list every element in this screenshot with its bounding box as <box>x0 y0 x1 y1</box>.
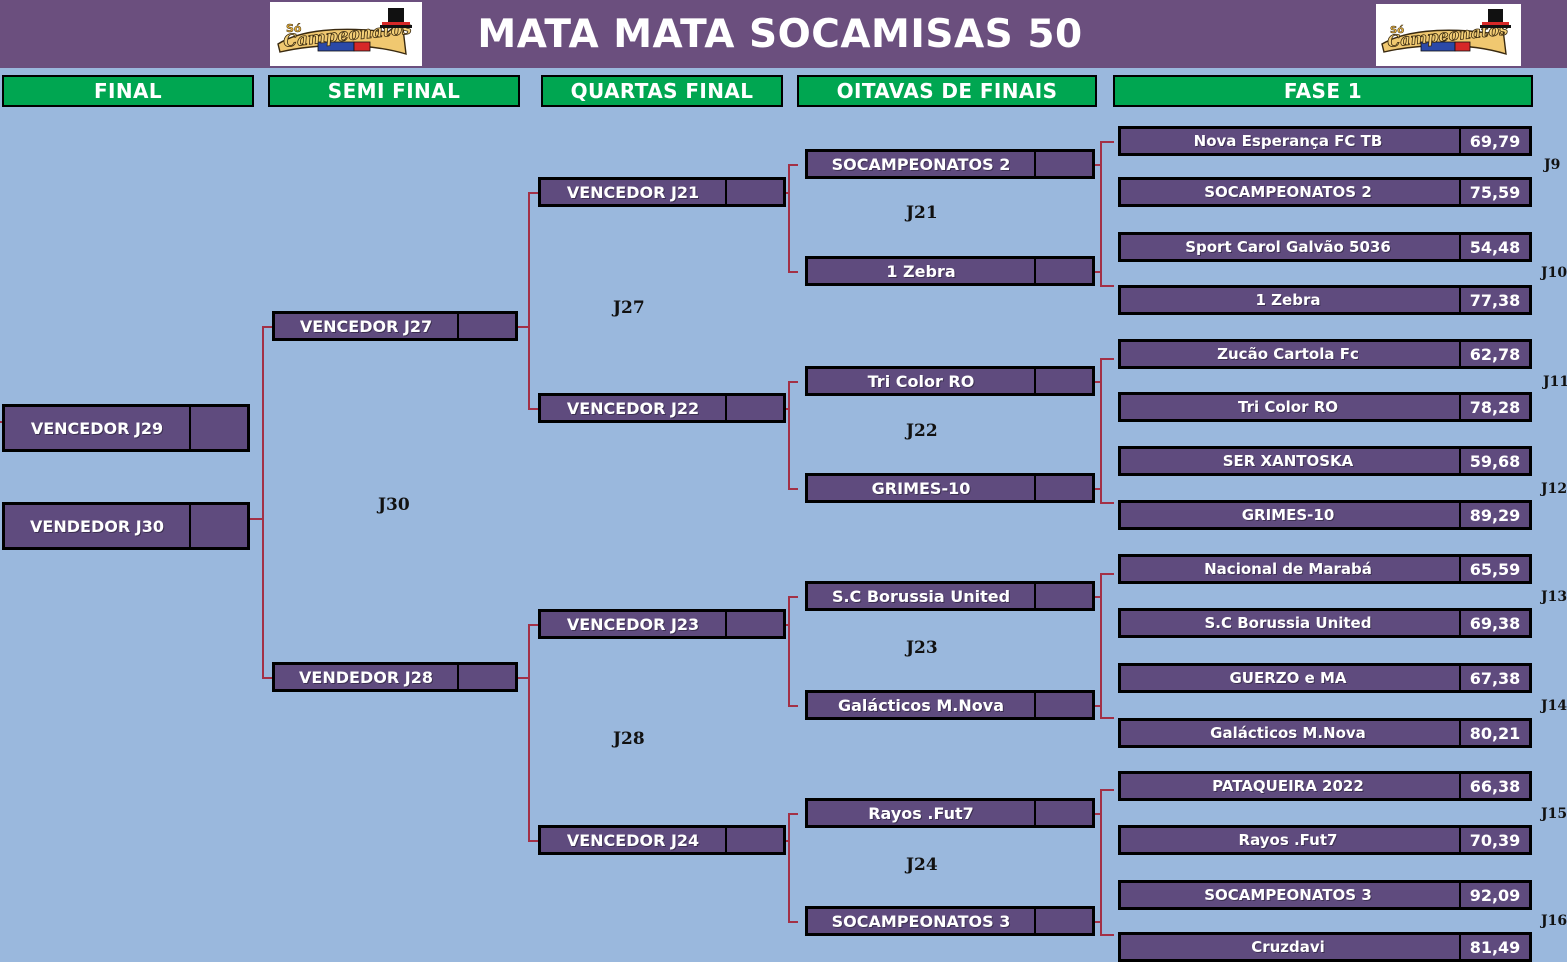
team-score: 80,21 <box>1459 721 1529 745</box>
team-name: Tri Color RO <box>808 369 1034 393</box>
fase1-team-box[interactable]: Zucão Cartola Fc 62,78 <box>1118 339 1532 369</box>
oitavas-team-box[interactable]: SOCAMPEONATOS 3 <box>805 906 1095 936</box>
connector <box>528 192 530 408</box>
connector <box>1100 358 1114 360</box>
fase1-team-box[interactable]: Sport Carol Galvão 5036 54,48 <box>1118 232 1532 262</box>
match-code-j15: J15 <box>1541 806 1567 822</box>
oitavas-team-box[interactable]: GRIMES-10 <box>805 473 1095 503</box>
team-score: 59,68 <box>1459 449 1529 473</box>
team-score: 92,09 <box>1459 883 1529 907</box>
team-name: Nacional de Marabá <box>1121 557 1459 581</box>
team-name: Zucão Cartola Fc <box>1121 342 1459 366</box>
connector <box>1100 285 1114 287</box>
fase1-team-box[interactable]: GUERZO e MA 67,38 <box>1118 663 1532 693</box>
team-score <box>725 396 783 420</box>
match-code-j22: J22 <box>906 421 938 441</box>
oitavas-team-box[interactable]: Galácticos M.Nova <box>805 690 1095 720</box>
team-score <box>189 407 247 449</box>
connector <box>1100 141 1114 143</box>
connector <box>250 518 264 520</box>
connector <box>1100 358 1102 503</box>
semi-team-box[interactable]: VENDEDOR J28 <box>272 662 518 692</box>
team-name: SOCAMPEONATOS 3 <box>1121 883 1459 907</box>
team-score <box>1034 369 1092 393</box>
fase1-team-box[interactable]: S.C Borussia United 69,38 <box>1118 608 1532 638</box>
team-name: S.C Borussia United <box>1121 611 1459 635</box>
fase1-team-box[interactable]: Nova Esperança FC TB 69,79 <box>1118 126 1532 156</box>
oitavas-team-box[interactable]: 1 Zebra <box>805 256 1095 286</box>
connector <box>528 624 530 840</box>
so-campeonatos-logo-left: Só Campeonatos <box>270 2 422 66</box>
phase-header-fase1[interactable]: FASE 1 <box>1113 75 1533 107</box>
phase-header-final[interactable]: FINAL <box>2 75 254 107</box>
connector <box>1100 573 1114 575</box>
match-code-j9: J9 <box>1544 157 1560 173</box>
team-name: VENCEDOR J21 <box>541 180 725 204</box>
team-name: VENCEDOR J22 <box>541 396 725 420</box>
team-score: 54,48 <box>1459 235 1529 259</box>
team-score <box>457 314 515 338</box>
connector <box>788 164 790 271</box>
fase1-team-box[interactable]: Nacional de Marabá 65,59 <box>1118 554 1532 584</box>
team-name: SER XANTOSKA <box>1121 449 1459 473</box>
fase1-team-box[interactable]: 1 Zebra 77,38 <box>1118 285 1532 315</box>
match-code-j16: J16 <box>1541 913 1567 929</box>
fase1-team-box[interactable]: Galácticos M.Nova 80,21 <box>1118 718 1532 748</box>
team-score <box>1034 693 1092 717</box>
team-score: 65,59 <box>1459 557 1529 581</box>
team-score: 81,49 <box>1459 935 1529 959</box>
team-name: Sport Carol Galvão 5036 <box>1121 235 1459 259</box>
connector <box>788 813 790 921</box>
semi-team-box[interactable]: VENCEDOR J27 <box>272 311 518 341</box>
connector <box>1100 502 1114 504</box>
team-score: 67,38 <box>1459 666 1529 690</box>
match-code-j21: J21 <box>906 203 938 223</box>
match-code-j24: J24 <box>906 855 938 875</box>
team-score <box>1034 584 1092 608</box>
connector <box>1100 789 1102 935</box>
team-name: VENCEDOR J27 <box>275 314 457 338</box>
team-name: GRIMES-10 <box>1121 503 1459 527</box>
team-score <box>725 180 783 204</box>
team-name: SOCAMPEONATOS 2 <box>1121 180 1459 204</box>
oitavas-team-box[interactable]: Rayos .Fut7 <box>805 798 1095 828</box>
team-name: VENDEDOR J28 <box>275 665 457 689</box>
connector <box>518 326 530 328</box>
connector <box>788 705 798 707</box>
connector <box>788 381 798 383</box>
team-name: Cruzdavi <box>1121 935 1459 959</box>
team-score <box>1034 476 1092 500</box>
phase-header-oitavas[interactable]: OITAVAS DE FINAIS <box>797 75 1097 107</box>
logo-graphic: Só Campeonatos <box>270 2 422 66</box>
connector <box>1100 573 1102 718</box>
connector <box>788 271 798 273</box>
match-code-j28: J28 <box>613 729 645 749</box>
team-score <box>189 505 247 547</box>
quartas-team-box[interactable]: VENCEDOR J23 <box>538 609 786 639</box>
title-banner: Só Campeonatos MATA MATA SOCAMISAS 50 Só… <box>0 0 1567 68</box>
match-code-j27: J27 <box>613 298 645 318</box>
team-score <box>725 612 783 636</box>
team-name: S.C Borussia United <box>808 584 1034 608</box>
team-score: 69,38 <box>1459 611 1529 635</box>
team-name: GUERZO e MA <box>1121 666 1459 690</box>
team-score: 70,39 <box>1459 828 1529 852</box>
team-score <box>1034 801 1092 825</box>
fase1-team-box[interactable]: SER XANTOSKA 59,68 <box>1118 446 1532 476</box>
connector <box>1100 189 1102 197</box>
oitavas-team-box[interactable]: Tri Color RO <box>805 366 1095 396</box>
fase1-team-box[interactable]: PATAQUEIRA 2022 66,38 <box>1118 771 1532 801</box>
match-code-j10: J10 <box>1541 265 1567 281</box>
phase-header-quartas[interactable]: QUARTAS FINAL <box>541 75 783 107</box>
logo-graphic: Só Campeonatos <box>1376 4 1521 66</box>
connector <box>788 381 790 488</box>
oitavas-team-box[interactable]: SOCAMPEONATOS 2 <box>805 149 1095 179</box>
page-title: MATA MATA SOCAMISAS 50 <box>430 6 1130 62</box>
match-code-j13: J13 <box>1541 589 1567 605</box>
team-name: Galácticos M.Nova <box>808 693 1034 717</box>
connector <box>1100 934 1114 936</box>
team-name: PATAQUEIRA 2022 <box>1121 774 1459 798</box>
team-score: 62,78 <box>1459 342 1529 366</box>
team-name: Galácticos M.Nova <box>1121 721 1459 745</box>
fase1-team-box[interactable]: Cruzdavi 81,49 <box>1118 932 1532 962</box>
connector <box>518 677 530 679</box>
team-name: SOCAMPEONATOS 3 <box>808 909 1034 933</box>
connector <box>1100 789 1114 791</box>
connector <box>788 164 798 166</box>
fase1-team-box[interactable]: Tri Color RO 78,28 <box>1118 392 1532 422</box>
team-name: VENCEDOR J24 <box>541 828 725 852</box>
team-score <box>457 665 515 689</box>
match-code-j30: J30 <box>378 495 410 515</box>
team-name: VENCEDOR J23 <box>541 612 725 636</box>
quartas-team-box[interactable]: VENCEDOR J21 <box>538 177 786 207</box>
team-score <box>725 828 783 852</box>
team-score <box>1034 152 1092 176</box>
oitavas-team-box[interactable]: S.C Borussia United <box>805 581 1095 611</box>
team-score: 66,38 <box>1459 774 1529 798</box>
team-name: VENDEDOR J30 <box>5 505 189 547</box>
match-code-j11: J11 <box>1543 374 1567 390</box>
team-name: GRIMES-10 <box>808 476 1034 500</box>
team-name: Rayos .Fut7 <box>808 801 1034 825</box>
match-code-j23: J23 <box>906 638 938 658</box>
quartas-team-box[interactable]: VENCEDOR J24 <box>538 825 786 855</box>
phase-header-semi[interactable]: SEMI FINAL <box>268 75 520 107</box>
team-name: SOCAMPEONATOS 2 <box>808 152 1034 176</box>
final-team-box[interactable]: VENDEDOR J30 <box>2 502 250 550</box>
match-code-j12: J12 <box>1541 481 1567 497</box>
connector <box>1100 141 1102 286</box>
so-campeonatos-logo-right: Só Campeonatos <box>1376 4 1521 66</box>
connector <box>262 326 264 677</box>
connector <box>788 596 798 598</box>
final-team-box[interactable]: VENCEDOR J29 <box>2 404 250 452</box>
team-name: Nova Esperança FC TB <box>1121 129 1459 153</box>
team-name: Tri Color RO <box>1121 395 1459 419</box>
team-score: 75,59 <box>1459 180 1529 204</box>
team-score: 89,29 <box>1459 503 1529 527</box>
fase1-team-box[interactable]: SOCAMPEONATOS 2 75,59 <box>1118 177 1532 207</box>
connector <box>788 596 790 705</box>
bracket-page: Só Campeonatos MATA MATA SOCAMISAS 50 Só… <box>0 0 1567 962</box>
connector <box>788 813 798 815</box>
connector <box>788 921 798 923</box>
fase1-team-box[interactable]: SOCAMPEONATOS 3 92,09 <box>1118 880 1532 910</box>
team-name: Rayos .Fut7 <box>1121 828 1459 852</box>
team-score: 77,38 <box>1459 288 1529 312</box>
team-score <box>1034 909 1092 933</box>
team-score: 78,28 <box>1459 395 1529 419</box>
match-code-j14: J14 <box>1541 698 1567 714</box>
fase1-team-box[interactable]: Rayos .Fut7 70,39 <box>1118 825 1532 855</box>
fase1-team-box[interactable]: GRIMES-10 89,29 <box>1118 500 1532 530</box>
team-score: 69,79 <box>1459 129 1529 153</box>
team-score <box>1034 259 1092 283</box>
team-name: 1 Zebra <box>808 259 1034 283</box>
team-name: 1 Zebra <box>1121 288 1459 312</box>
connector <box>788 488 798 490</box>
connector <box>1100 717 1114 719</box>
team-name: VENCEDOR J29 <box>5 407 189 449</box>
quartas-team-box[interactable]: VENCEDOR J22 <box>538 393 786 423</box>
